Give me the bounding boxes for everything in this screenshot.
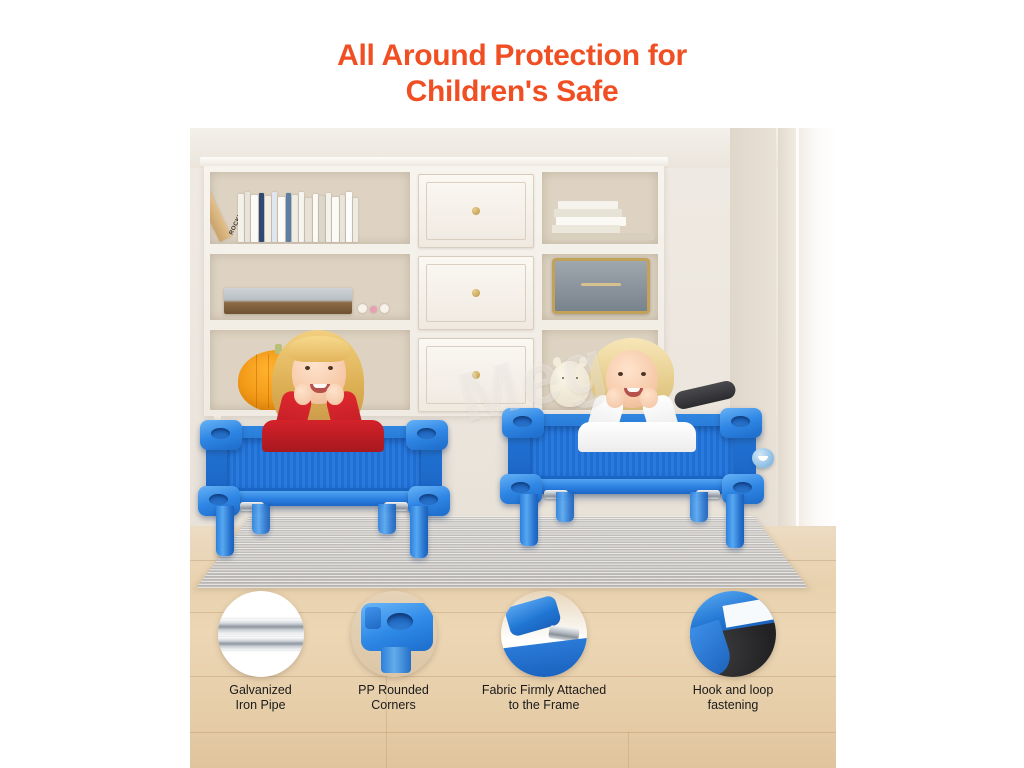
eye [618,372,623,376]
caption-line-1: Fabric Firmly Attached [482,683,606,697]
drawer-knob-icon [472,371,480,379]
steel-pipe-icon [218,591,304,677]
hand [326,384,344,405]
page-title: All Around Protection for Children's Saf… [0,38,1024,110]
cot-leg [556,492,574,522]
hand [640,388,658,408]
feature-caption: PP Rounded Corners [321,683,466,713]
cot-leg [216,506,234,556]
drawer-knob-icon [472,207,480,215]
caption-line-2: Iron Pipe [235,698,285,712]
eye [305,366,310,370]
feature-caption: Fabric Firmly Attached to the Frame [449,683,639,713]
drawer[interactable] [418,256,534,330]
vintage-radio [552,258,650,314]
book-stack [550,194,628,240]
feature-strip: Galvanized Iron Pipe PP Rounded Corners [190,591,836,726]
caption-line-1: PP Rounded [358,683,429,697]
caption-line-2: fastening [708,698,759,712]
teeth [313,384,327,388]
cot-leg [410,506,428,558]
velcro-icon [690,591,776,677]
caption-line-1: Galvanized [229,683,292,697]
feature-fabric-attached: Fabric Firmly Attached to the Frame [449,591,639,713]
cot-leg [252,504,270,534]
feature-hook-and-loop: Hook and loop fastening [638,591,828,713]
cot-leg [726,494,744,548]
turntable [224,288,352,314]
torso [262,420,384,452]
cot-corner [720,408,762,438]
cot-leg [690,492,708,522]
cot-corner [406,420,448,450]
cot-leg [520,494,538,546]
door-frame [778,128,836,590]
shelf-cell-books: ROCKY [210,172,410,244]
feature-galvanized-iron-pipe: Galvanized Iron Pipe [190,591,333,713]
bangs [288,336,350,362]
headline-line-1: All Around Protection for [337,39,687,72]
cot-corner [200,420,242,450]
hand [294,384,312,405]
eye [641,372,646,376]
feature-caption: Hook and loop fastening [638,683,828,713]
drawer-knob-icon [472,289,480,297]
shelf-cell-turntable [210,254,410,320]
fabric-frame-icon [501,591,587,677]
torso [578,422,696,452]
drawer[interactable] [418,174,534,248]
child-toddler [562,340,712,444]
teeth [627,388,641,392]
cot-corner [502,408,544,438]
plastic-corner-icon [351,591,437,677]
shelf-column-drawers [418,168,534,412]
rug-texture [196,516,808,588]
feature-pp-rounded-corners: PP Rounded Corners [321,591,466,713]
caption-line-2: Corners [371,698,415,712]
cot-leg [378,504,396,534]
shelf-cell-radio [542,254,658,320]
feature-caption: Galvanized Iron Pipe [190,683,333,713]
caption-line-2: to the Frame [509,698,580,712]
shelf-trinket [358,304,367,313]
shelf-trinket [380,304,389,313]
product-lifestyle-photo: ROCKY [190,128,836,768]
hand [606,388,624,408]
shelf-trinket [370,306,377,313]
child-girl [248,334,398,444]
product-feature-image: ROCKY [0,0,1024,768]
headline-line-2: Children's Safe [0,74,1024,110]
book-row: ROCKY [216,184,386,242]
drawer[interactable] [418,338,534,412]
caption-line-1: Hook and loop [693,683,774,697]
striped-rug [196,516,808,588]
blue-toy [752,448,774,468]
eye [328,366,333,370]
shelf-cell-book-stack [542,172,658,244]
shelf-top-panel [200,157,668,166]
